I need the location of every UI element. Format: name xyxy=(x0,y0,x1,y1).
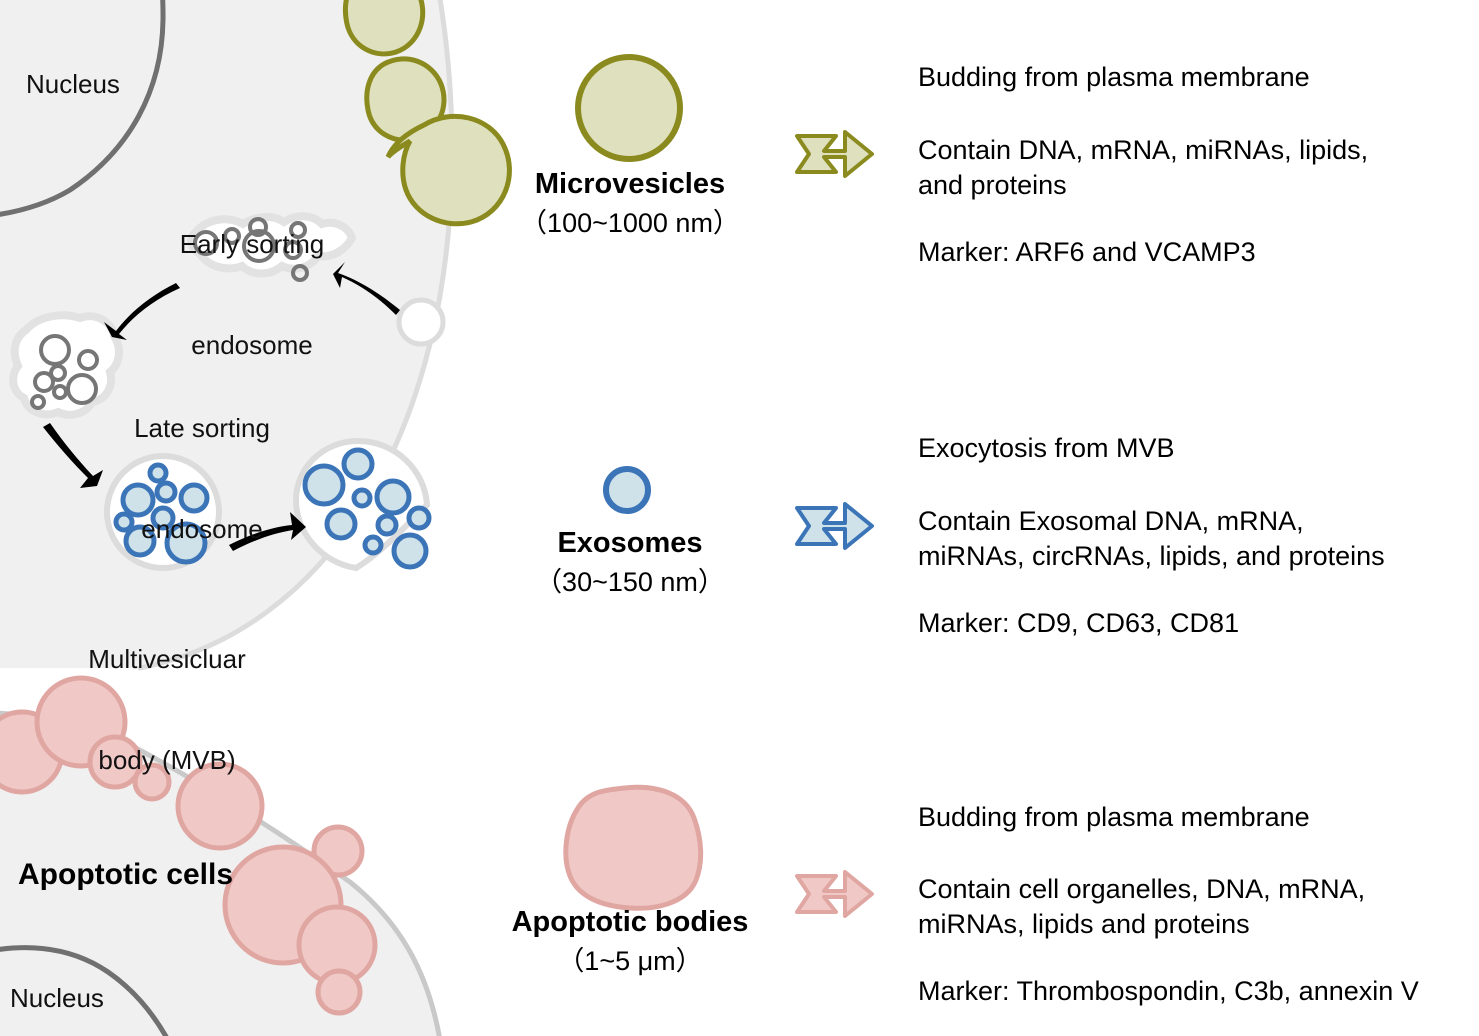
microvesicle-circle-icon xyxy=(578,57,680,159)
late-sorting-endosome-body xyxy=(13,315,119,414)
block-arrows-group xyxy=(797,132,872,916)
multivesicular-body-label-line2: body (MVB) xyxy=(72,744,262,778)
apoptotic-body-blob-icon xyxy=(566,787,701,908)
arrow-right-olive xyxy=(797,132,872,176)
microvesicles-size: （100~1000 nm） xyxy=(495,201,765,240)
exosomes-origin: Exocytosis from MVB xyxy=(918,431,1175,466)
exosome-circle-icon xyxy=(606,469,648,511)
top-nucleus-label: Nucleus xyxy=(26,68,120,102)
late-sorting-endosome-label-line1: Late sorting xyxy=(128,412,276,446)
arrow-right-blue xyxy=(797,504,872,548)
late-sorting-endosome-label-line2: endosome xyxy=(128,513,276,547)
microvesicles-marker: Marker: ARF6 and VCAMP3 xyxy=(918,235,1256,270)
endocytosis-invagination xyxy=(399,300,443,344)
multivesicular-body-label-line1: Multivesicluar xyxy=(72,643,262,677)
apoptotic-bleb xyxy=(318,971,360,1013)
multivesicular-body-label: Multivesicluar body (MVB) xyxy=(72,575,262,845)
exosomes-cargo: Contain Exosomal DNA, mRNA, miRNAs, circ… xyxy=(918,504,1385,574)
exosomes-size: （30~150 nm） xyxy=(495,560,765,599)
apoptotic-bodies-name: Apoptotic bodies xyxy=(470,906,790,939)
microvesicles-cargo: Contain DNA, mRNA, miRNAs, lipids, and p… xyxy=(918,133,1368,203)
apoptotic-bodies-origin: Budding from plasma membrane xyxy=(918,800,1310,835)
figure-canvas: Nucleus Early sorting endosome Late sort… xyxy=(0,0,1479,1036)
microvesicles-name: Microvesicles xyxy=(495,168,765,201)
early-sorting-endosome-label-line1: Early sorting xyxy=(172,228,332,262)
apoptotic-cells-title: Apoptotic cells xyxy=(18,855,233,894)
bottom-nucleus-label: Nucleus xyxy=(10,982,104,1016)
budding-microvesicle-1 xyxy=(345,0,422,54)
arrow-right-pink xyxy=(797,872,872,916)
apoptotic-bodies-size: （1~5 μm） xyxy=(470,939,790,978)
exosomes-caption: Exosomes （30~150 nm） xyxy=(495,527,765,599)
late-sorting-endosome xyxy=(13,315,119,414)
exosomes-marker: Marker: CD9, CD63, CD81 xyxy=(918,606,1239,641)
microvesicles-origin: Budding from plasma membrane xyxy=(918,60,1310,95)
late-sorting-endosome-label: Late sorting endosome xyxy=(128,344,276,614)
apoptotic-bodies-cargo: Contain cell organelles, DNA, mRNA, miRN… xyxy=(918,872,1365,942)
apoptotic-bodies-caption: Apoptotic bodies （1~5 μm） xyxy=(470,906,790,978)
apoptotic-bodies-marker: Marker: Thrombospondin, C3b, annexin V xyxy=(918,974,1419,1009)
exosomes-name: Exosomes xyxy=(495,527,765,560)
microvesicles-caption: Microvesicles （100~1000 nm） xyxy=(495,168,765,240)
mvb-fusion-exosome-release xyxy=(296,441,429,568)
